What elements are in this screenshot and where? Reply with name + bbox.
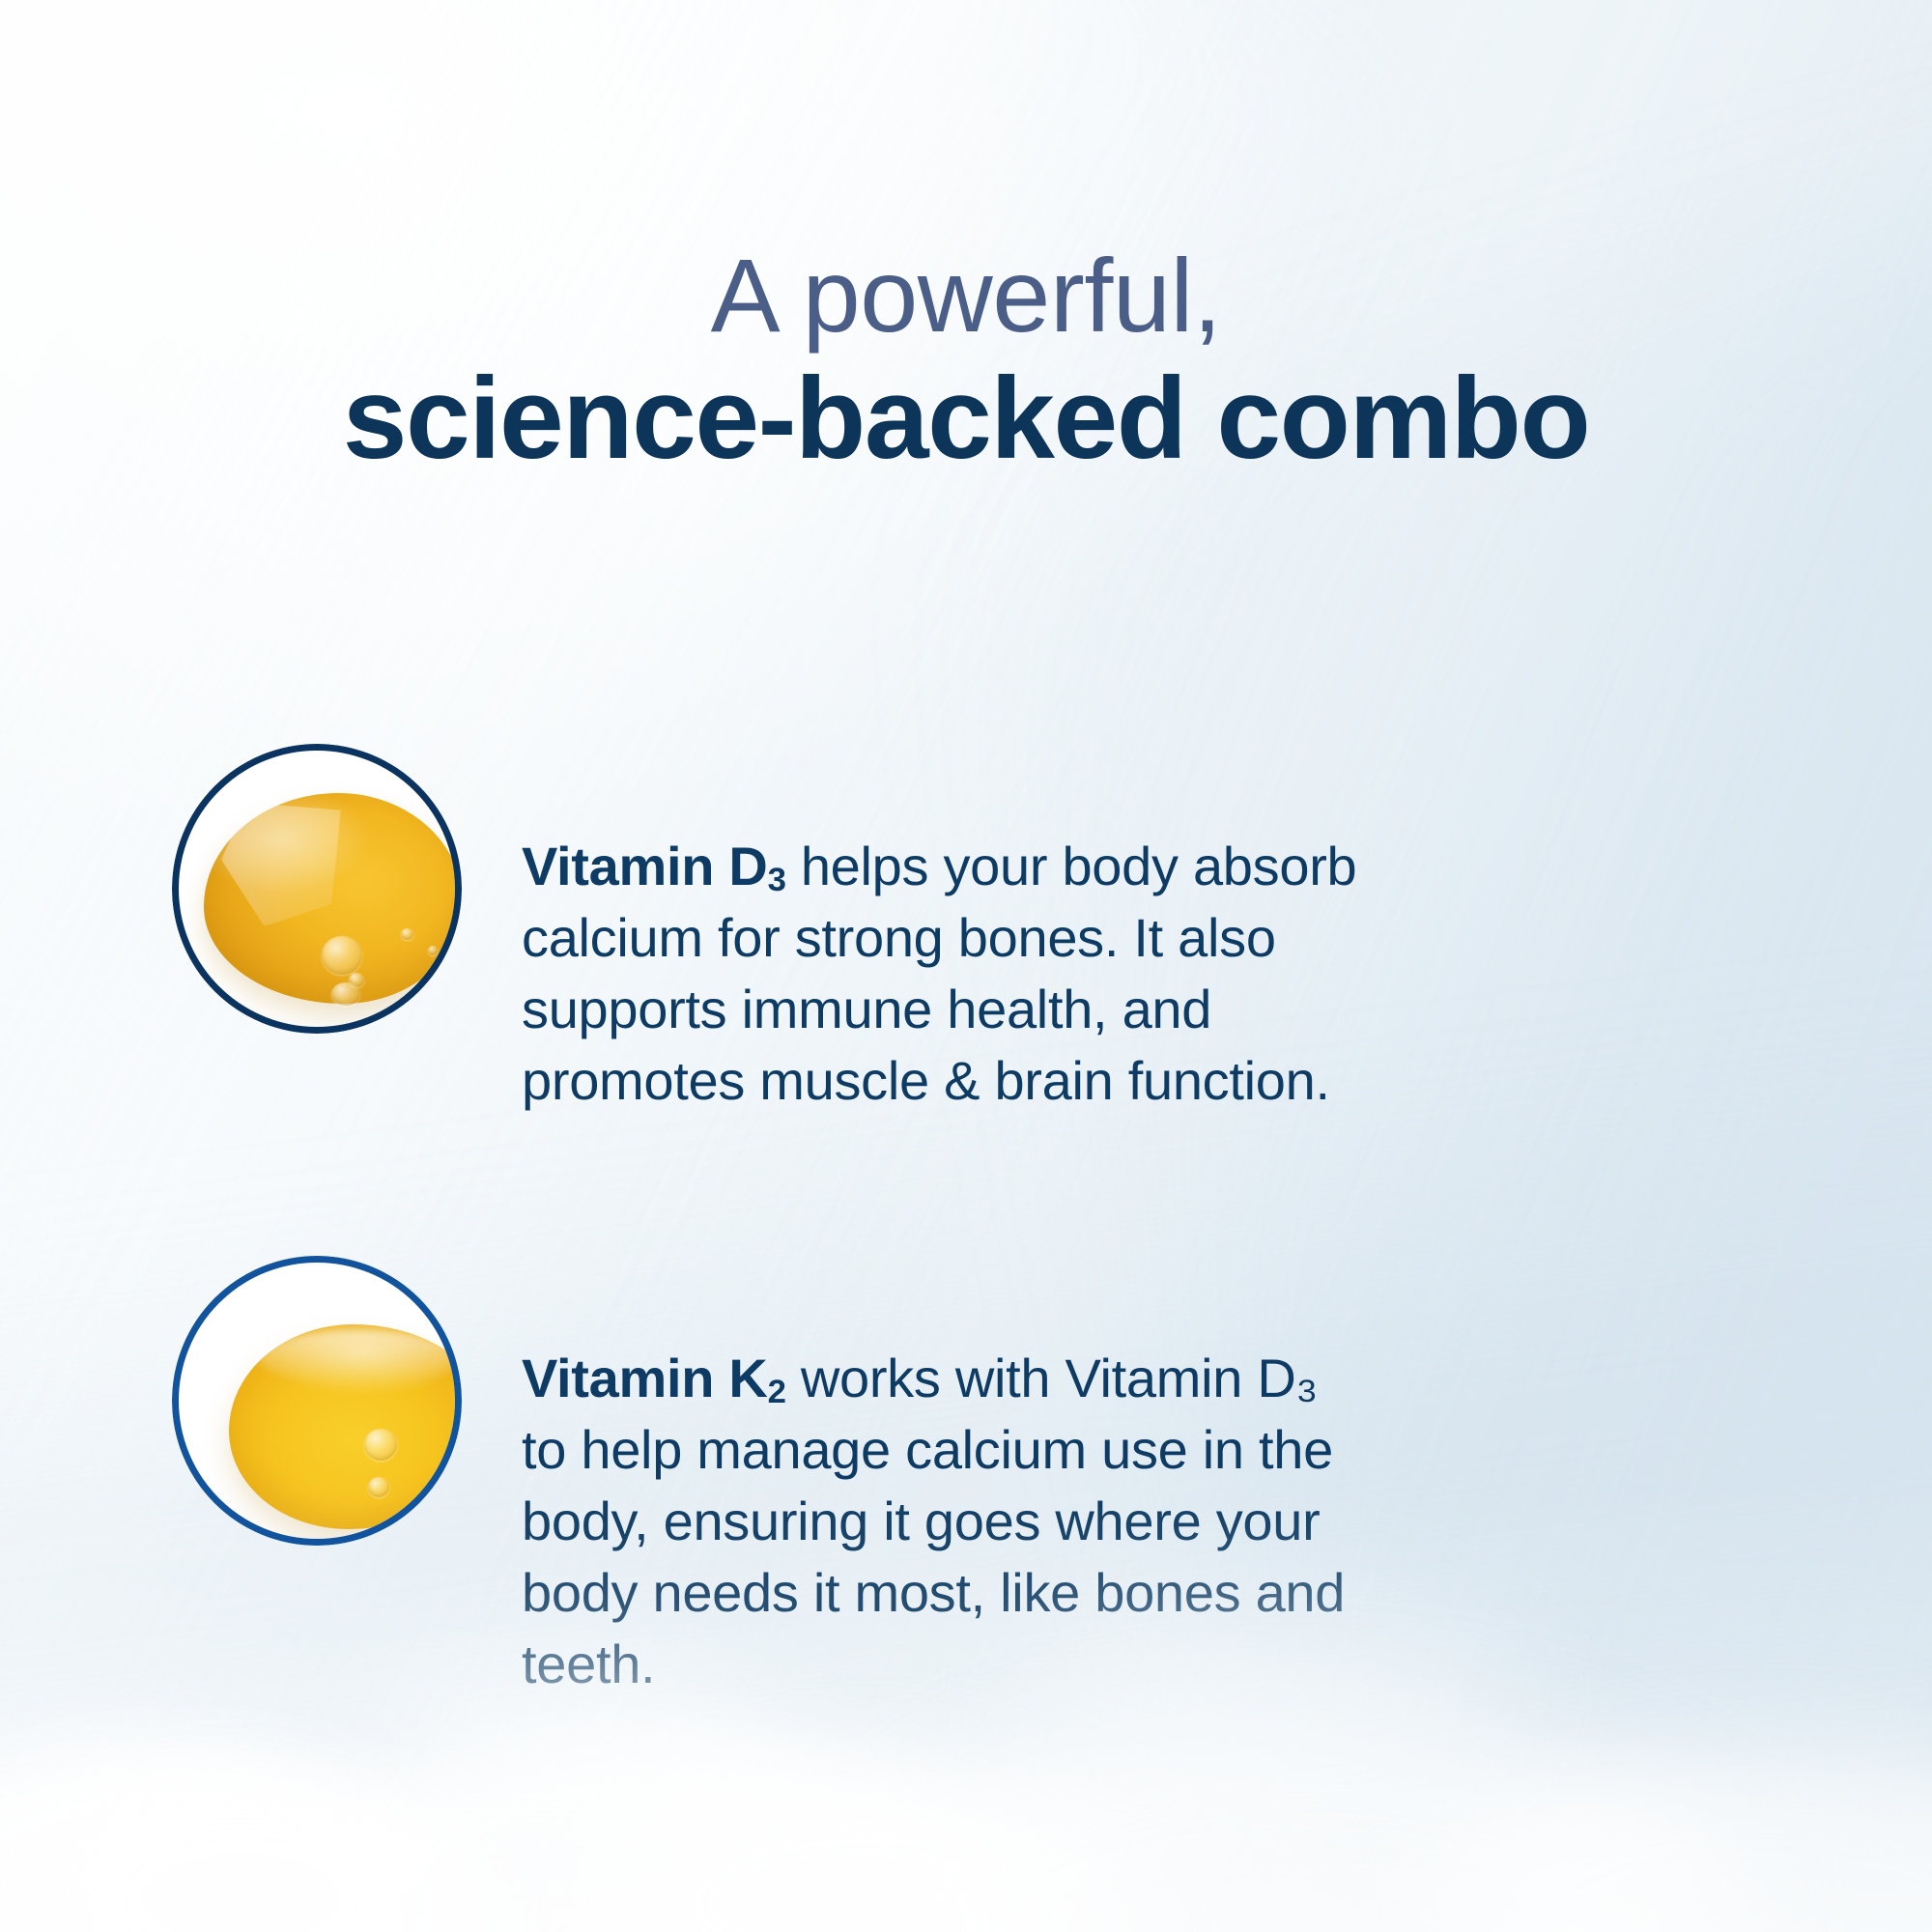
feature-row-vitamin-k2: Vitamin K2 works with Vitamin D₃ to help…	[172, 1256, 1372, 1754]
feature-lead-text: Vitamin K	[522, 1348, 768, 1408]
headline-line-2: science-backed combo	[0, 358, 1932, 479]
vitamin-k2-oil-droplet-icon	[172, 1256, 462, 1546]
feature-lead-label: Vitamin K2	[522, 1348, 786, 1408]
feature-description-vitamin-k2: Vitamin K2 works with Vitamin D₃ to help…	[522, 1310, 1372, 1700]
feature-description-vitamin-d3: Vitamin D3 helps your body absorb calciu…	[522, 798, 1372, 1117]
headline-line-1: A powerful,	[0, 240, 1932, 353]
cloud-puff	[0, 1748, 483, 1932]
promo-card: A powerful, science-backed combo Vitamin…	[0, 0, 1932, 1932]
thumb-ring	[172, 1256, 462, 1546]
vitamin-d3-softgel-oil-droplet-icon	[172, 744, 462, 1034]
oil-bubble	[420, 1523, 429, 1532]
feature-lead-subscript: 3	[768, 862, 786, 898]
cloud-puff	[599, 1758, 1140, 1932]
cloud-puff	[1430, 1748, 1932, 1932]
feature-row-vitamin-d3: Vitamin D3 helps your body absorb calciu…	[172, 744, 1372, 1171]
page-title: A powerful, science-backed combo	[0, 240, 1932, 478]
feature-lead-subscript: 2	[768, 1374, 786, 1410]
feature-lead-label: Vitamin D3	[522, 836, 786, 896]
feature-lead-text: Vitamin D	[522, 836, 768, 896]
cloud-puff	[319, 1729, 995, 1932]
thumb-ring	[172, 744, 462, 1034]
cloud-puff	[0, 1739, 232, 1874]
cloud-puff	[58, 1777, 425, 1932]
